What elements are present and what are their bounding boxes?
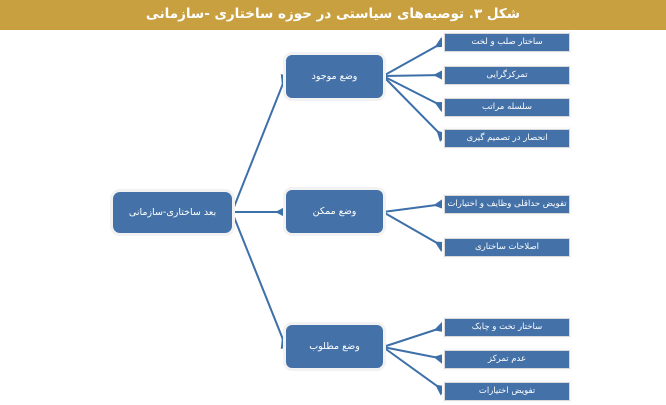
node-root-label: بعد ساختاری-سازمانی	[126, 208, 219, 218]
node-leaf-label: تفویض اختیارات	[476, 387, 538, 396]
node-leaf-label: تمرکزگرایی	[483, 71, 530, 80]
connector-root-to-branch-3	[232, 212, 286, 347]
node-branch-3-label: وضع مطلوب	[306, 342, 363, 352]
node-leaf-label: ساختار صلب و لخت	[468, 38, 545, 47]
connector-branch-1-to-leaf-4	[383, 76, 444, 138]
node-leaf[interactable]: عدم تمرکز	[444, 350, 570, 369]
connector-branch-3-to-leaf-1	[383, 327, 444, 347]
node-branch-1-label: وضع موجود	[309, 72, 361, 82]
node-leaf[interactable]: ساختار صلب و لخت	[444, 33, 570, 52]
connector-branch-2-to-leaf-1	[383, 204, 444, 212]
connector-branch-1-to-leaf-3	[383, 76, 444, 107]
node-leaf[interactable]: تفویض حداقلی وظایف و اختیارات	[444, 195, 570, 214]
node-leaf-label: ساختار تخت و چابک	[469, 323, 545, 332]
node-leaf-label: عدم تمرکز	[485, 355, 529, 364]
node-branch-desired-state[interactable]: وضع مطلوب	[286, 325, 383, 368]
node-branch-2-label: وضع ممکن	[310, 207, 360, 217]
node-leaf[interactable]: ساختار تخت و چابک	[444, 318, 570, 337]
node-branch-current-state[interactable]: وضع موجود	[286, 55, 383, 98]
node-leaf[interactable]: تمرکزگرایی	[444, 66, 570, 85]
node-leaf-label: تفویض حداقلی وظایف و اختیارات	[444, 200, 569, 209]
connector-branch-2-to-leaf-2	[383, 212, 444, 247]
node-leaf[interactable]: تفویض اختیارات	[444, 382, 570, 401]
connector-branch-1-to-leaf-2	[383, 75, 444, 76]
figure-container: شکل ۳. توصیه‌های سیاستی در حوزه ساختاری …	[0, 0, 666, 405]
node-leaf-label: اصلاحات ساختاری	[472, 243, 542, 252]
node-leaf[interactable]: انحصار در تصمیم گیری	[444, 129, 570, 148]
node-leaf[interactable]: اصلاحات ساختاری	[444, 238, 570, 257]
node-leaf[interactable]: سلسله مراتب	[444, 98, 570, 117]
node-leaf-label: انحصار در تصمیم گیری	[463, 134, 550, 143]
node-leaf-label: سلسله مراتب	[479, 103, 535, 112]
node-root[interactable]: بعد ساختاری-سازمانی	[113, 192, 232, 233]
node-branch-possible-state[interactable]: وضع ممکن	[286, 190, 383, 233]
connector-branch-1-to-leaf-1	[383, 42, 444, 76]
connector-root-to-branch-1	[232, 76, 286, 212]
